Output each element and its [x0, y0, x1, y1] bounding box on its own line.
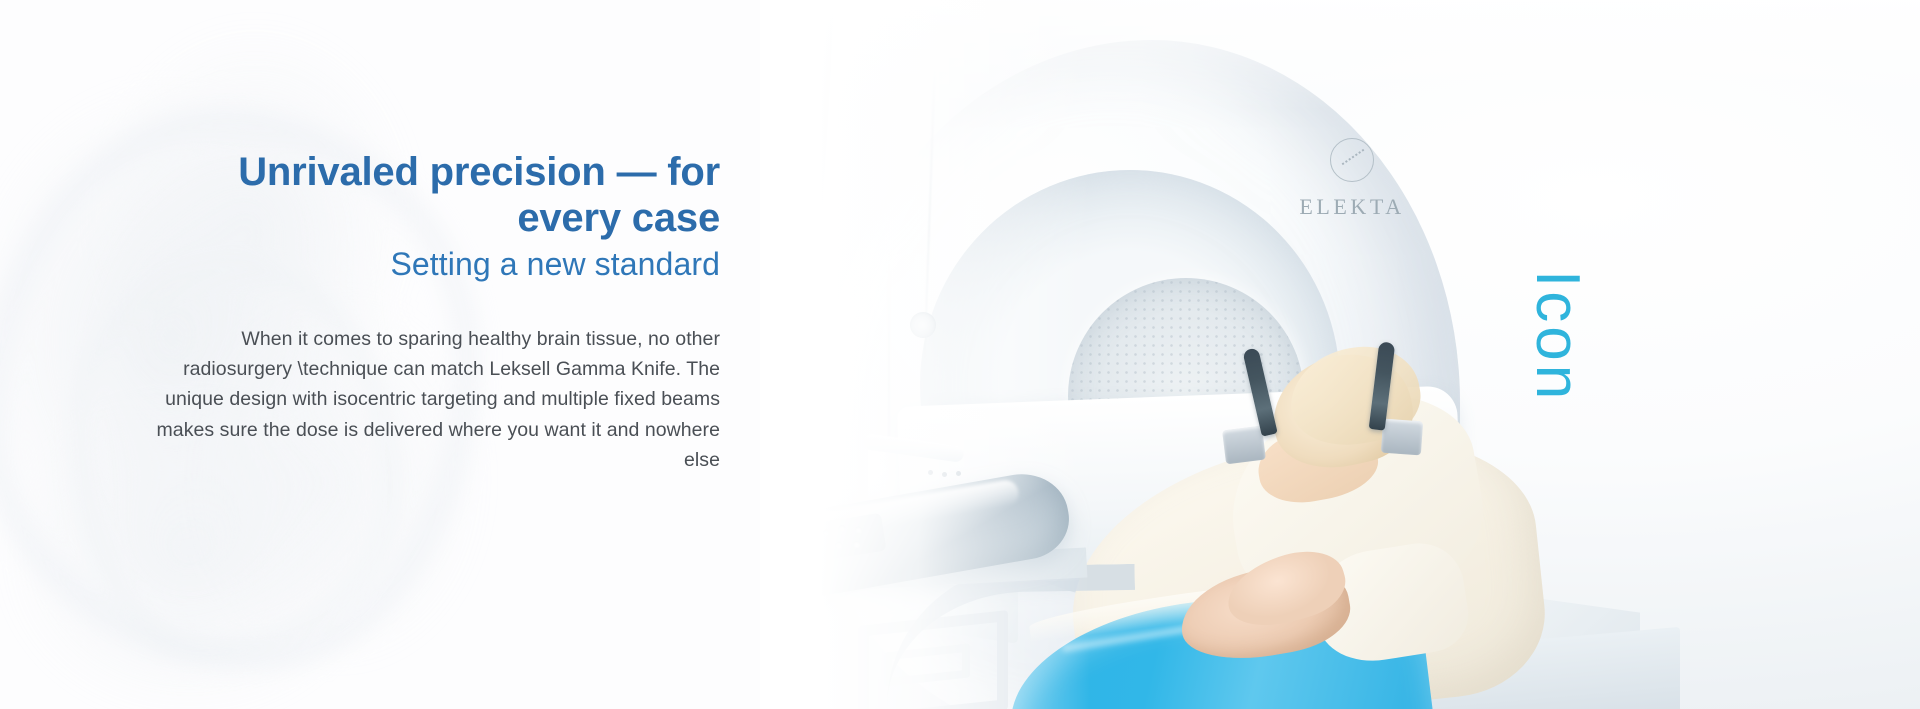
copy-block: Unrivaled precision — for every case Set… — [150, 150, 720, 476]
frame-clamp-base — [1381, 419, 1423, 456]
treatment-scene-photo — [760, 0, 1920, 709]
product-wordmark-icon: Icon — [1526, 270, 1588, 403]
photo-left-fade — [760, 0, 1090, 709]
hero-banner: ELEKTA Icon Unrivaled precision — for ev… — [0, 0, 1920, 709]
headline: Unrivaled precision — for every case — [150, 150, 720, 241]
subheadline: Setting a new standard — [150, 245, 720, 283]
frame-clamp-base — [1222, 426, 1266, 465]
elekta-circle-icon — [1330, 138, 1374, 182]
elekta-logo: ELEKTA — [1292, 138, 1412, 220]
elekta-wordmark: ELEKTA — [1292, 194, 1412, 220]
body-paragraph: When it comes to sparing healthy brain t… — [150, 324, 720, 476]
